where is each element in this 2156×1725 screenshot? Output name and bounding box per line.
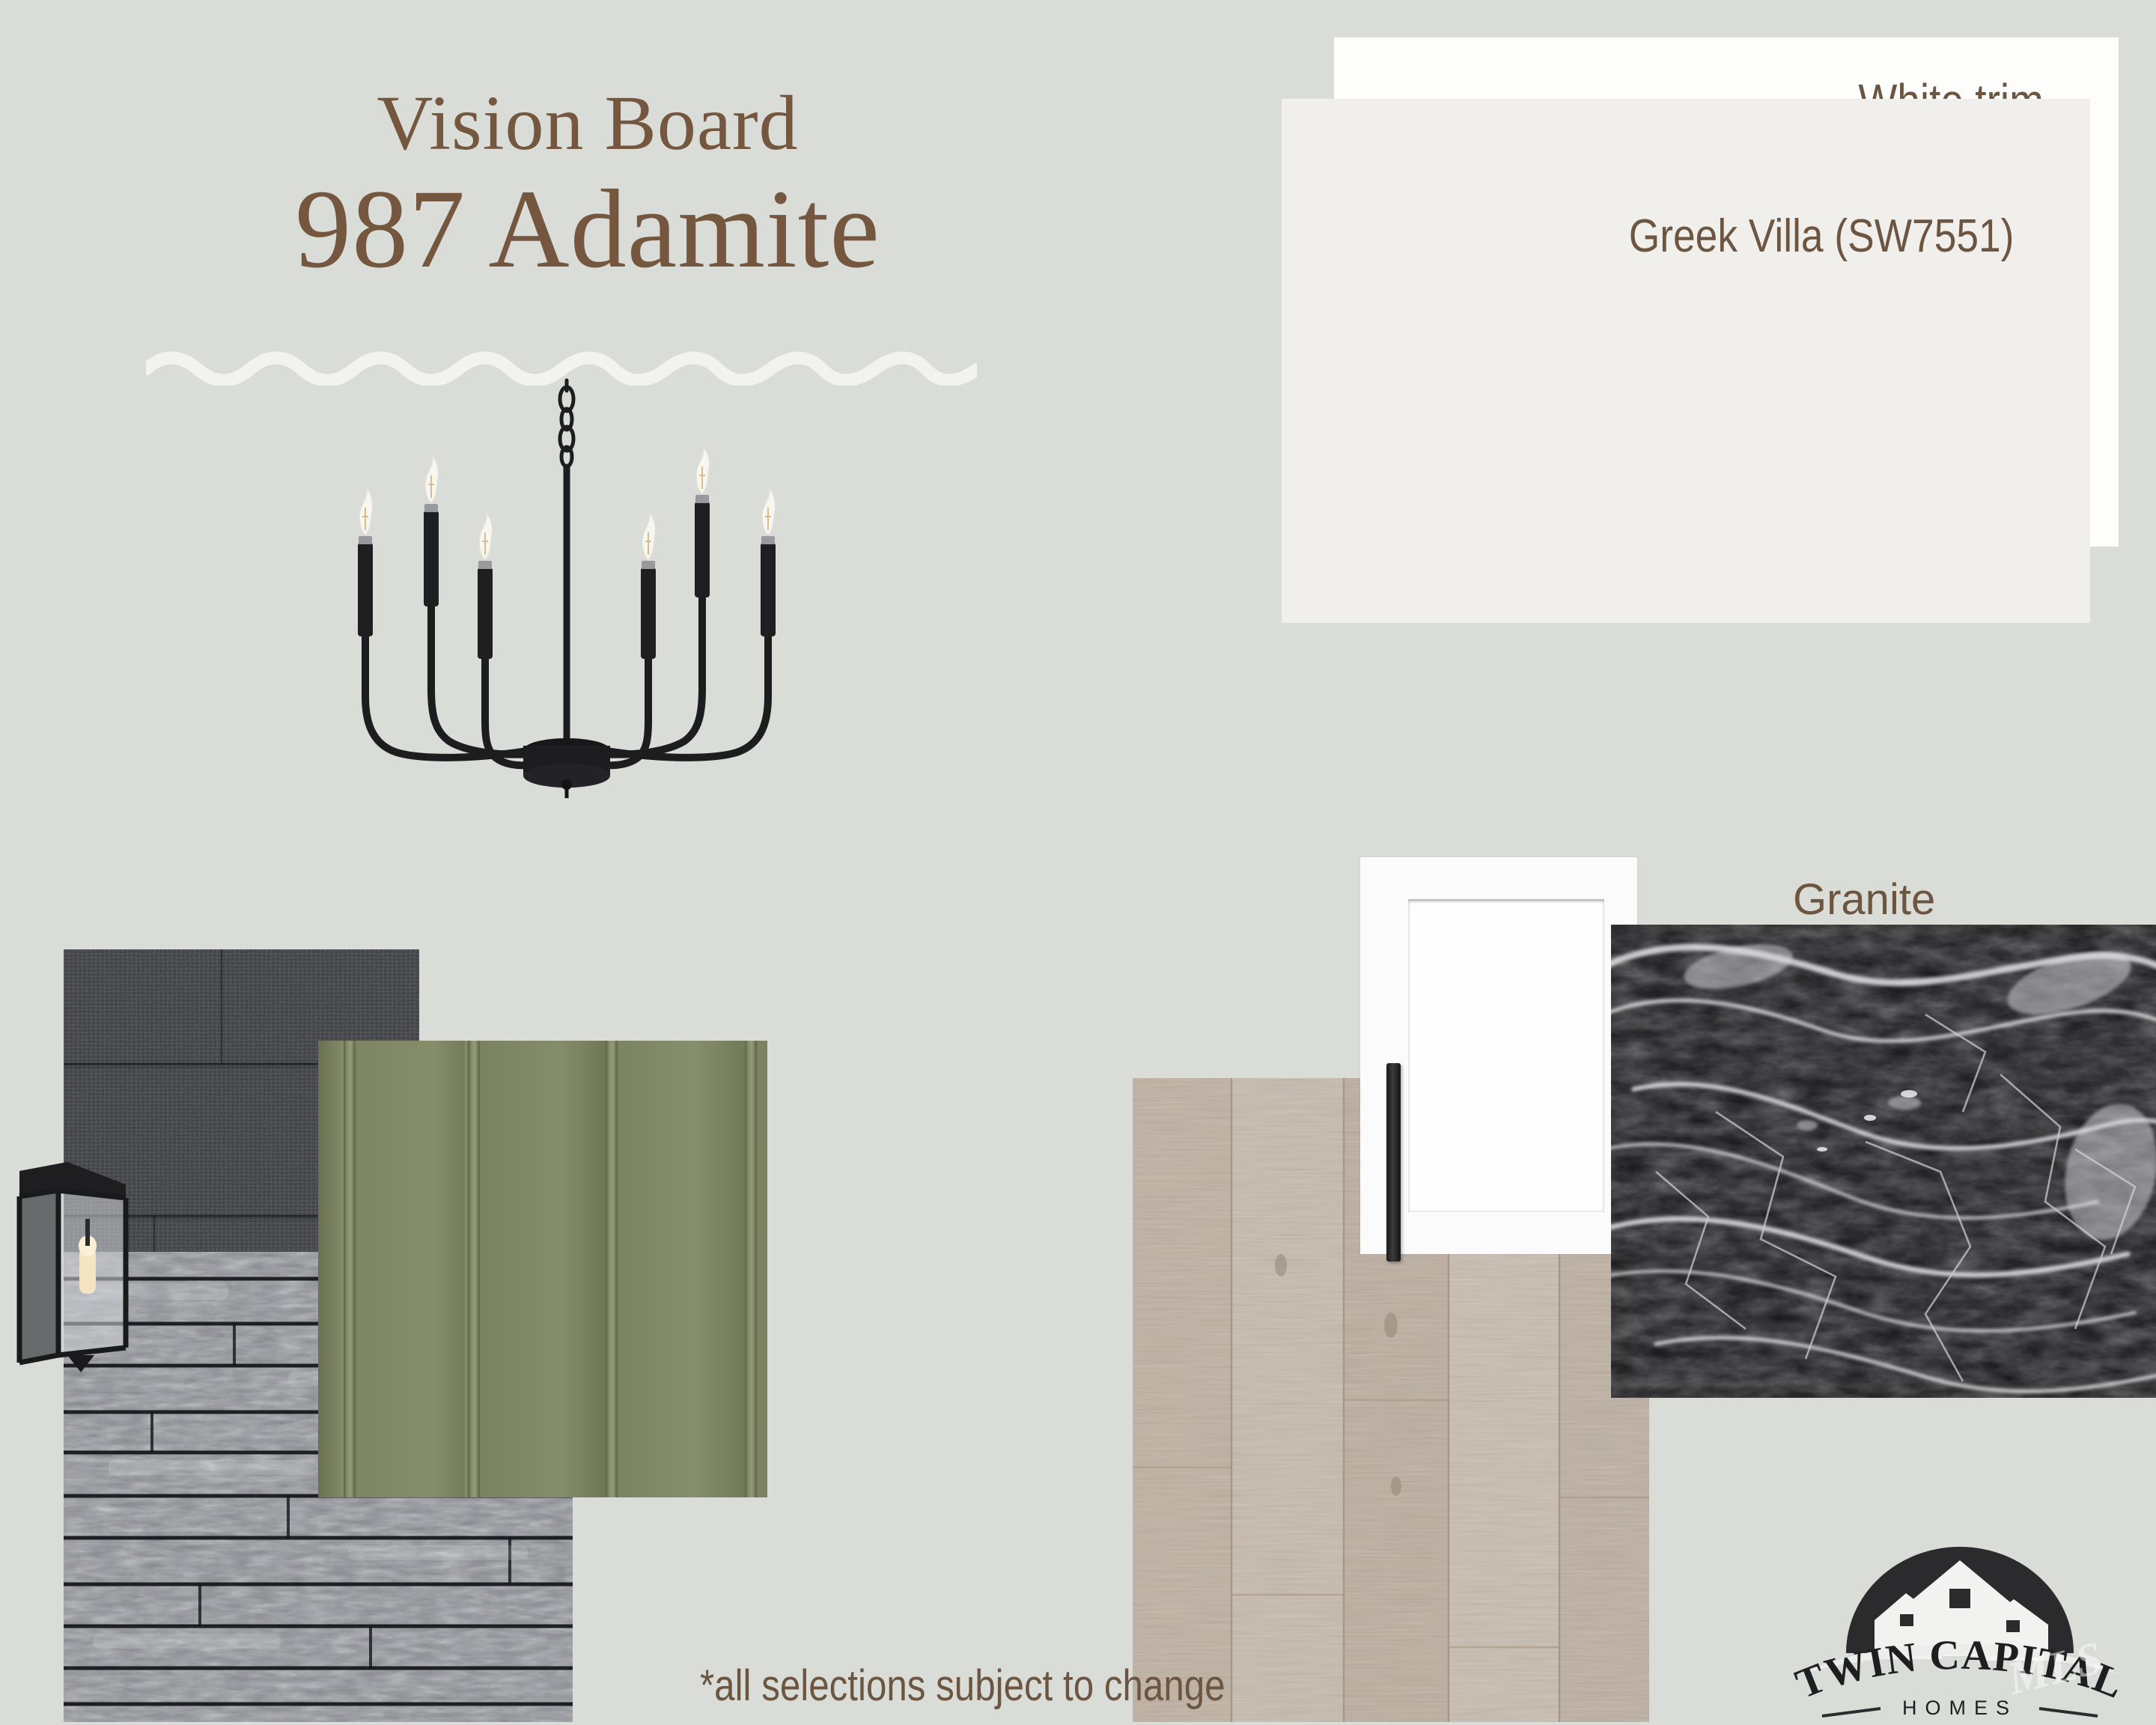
lantern-sconce-icon bbox=[13, 1159, 141, 1380]
swatch-greek-villa: Greek Villa (SW7551) bbox=[1282, 99, 2090, 623]
title-block: Vision Board 987 Adamite bbox=[157, 82, 1018, 290]
chandelier-icon bbox=[299, 374, 898, 854]
label-granite: Granite bbox=[1793, 874, 1935, 925]
page-eyebrow: Vision Board bbox=[157, 82, 1018, 164]
logo-brand-line2: HOMES bbox=[1902, 1697, 2018, 1719]
granite-texture bbox=[1611, 925, 2156, 1398]
swatch-cabinet-door bbox=[1360, 857, 1637, 1254]
page-title: 987 Adamite bbox=[157, 168, 1018, 290]
cabinet-center-panel bbox=[1408, 899, 1604, 1212]
disclaimer-text: *all selections subject to change bbox=[700, 1661, 1225, 1711]
swatch-siding bbox=[318, 1041, 767, 1497]
label-greek-villa: Greek Villa (SW7551) bbox=[1628, 210, 2014, 263]
swatch-granite bbox=[1611, 925, 2156, 1398]
vision-board: Vision Board 987 Adamite White trim Gree… bbox=[0, 0, 2156, 1725]
cabinet-bar-pull-handle bbox=[1386, 1063, 1401, 1262]
twin-capital-homes-logo: TWIN CAPITAL HOMES MLS bbox=[1780, 1527, 2140, 1724]
